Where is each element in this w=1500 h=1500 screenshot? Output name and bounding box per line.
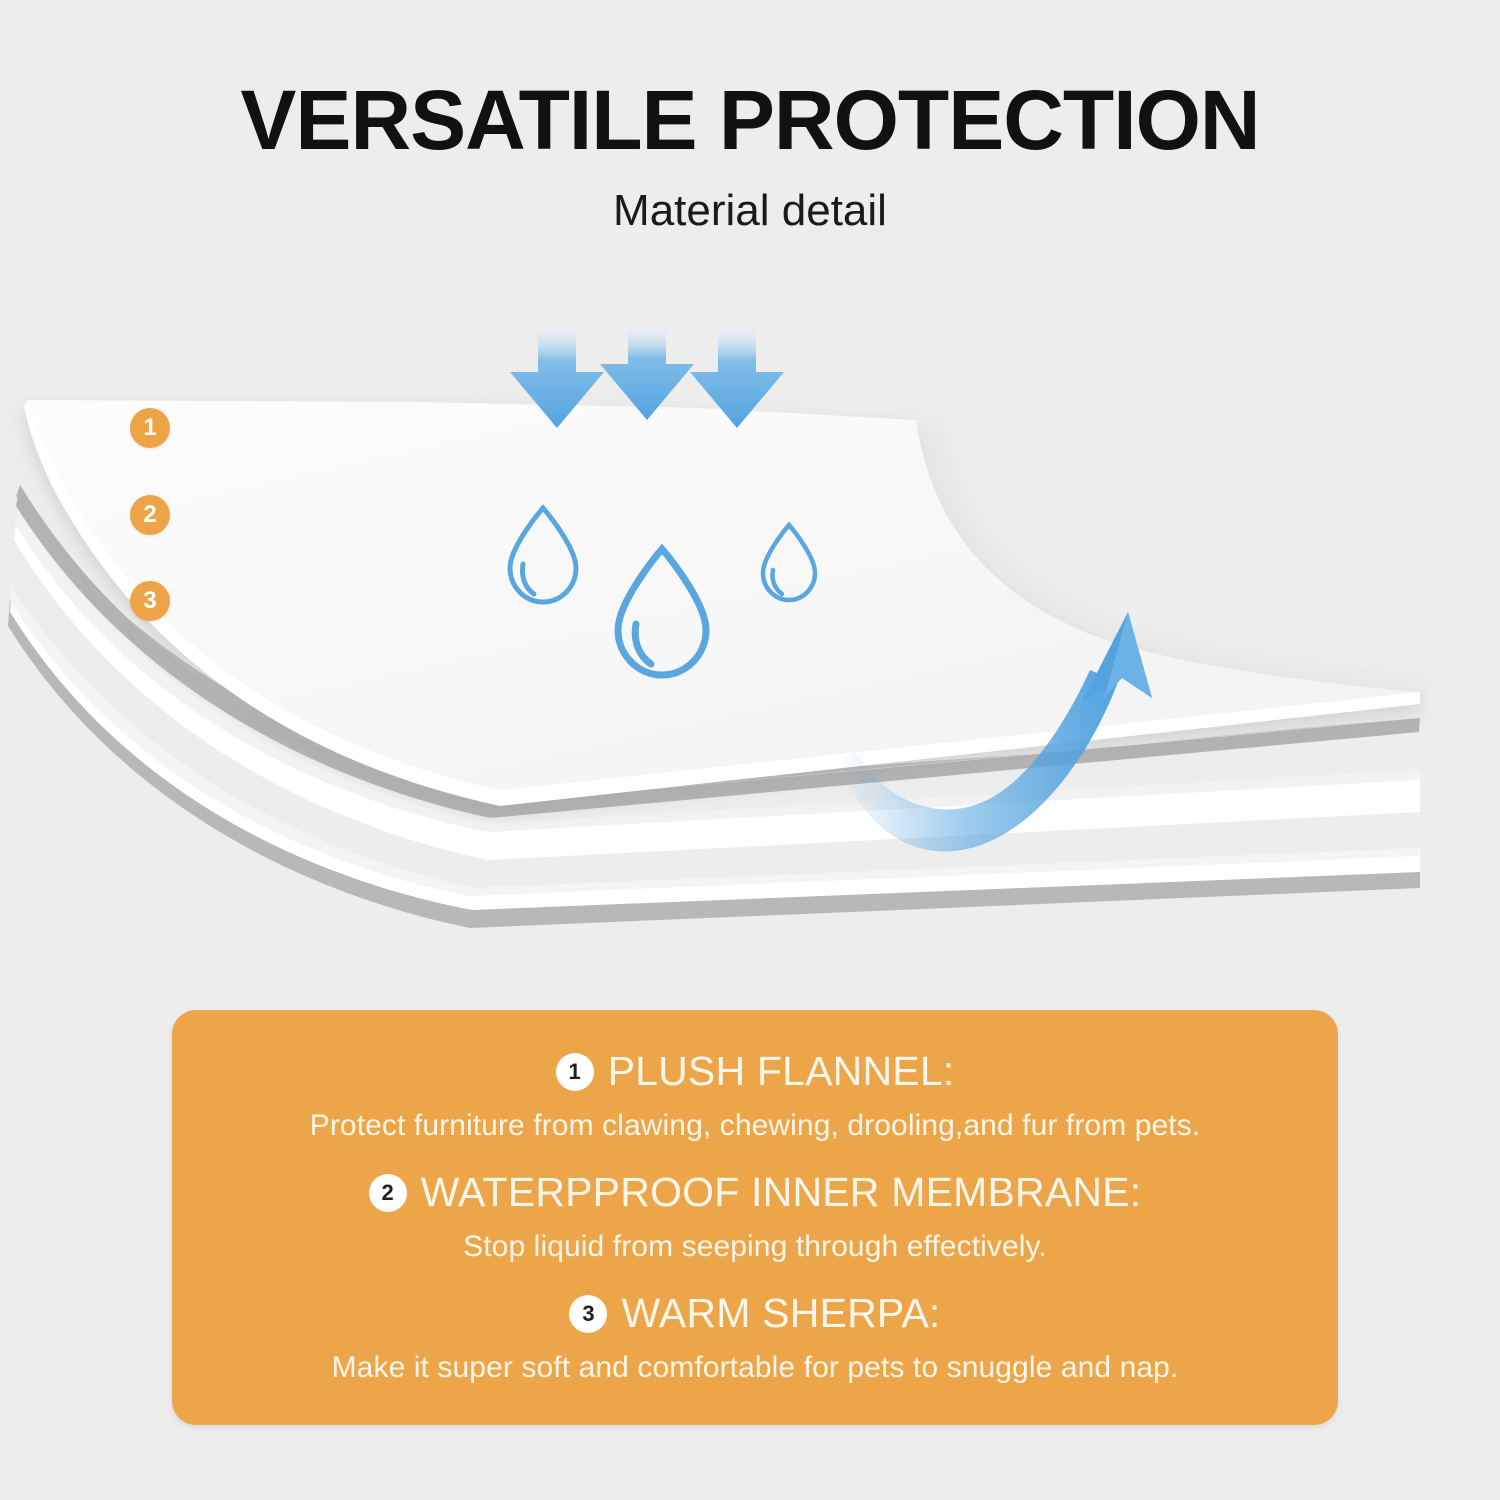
down-arrows-group bbox=[510, 320, 784, 428]
infographic-page: VERSATILE PROTECTION Material detail bbox=[0, 0, 1500, 1500]
header: VERSATILE PROTECTION Material detail bbox=[0, 0, 1500, 236]
feature-heading-3: 3 WARM SHERPA: bbox=[172, 1290, 1338, 1337]
layer-marker-1: 1 bbox=[130, 408, 170, 448]
feature-description-2: Stop liquid from seeping through effecti… bbox=[172, 1230, 1338, 1264]
down-arrow-icon bbox=[600, 320, 694, 420]
feature-description-1: Protect furniture from clawing, chewing,… bbox=[172, 1109, 1338, 1143]
feature-title-1: PLUSH FLANNEL: bbox=[608, 1048, 955, 1095]
material-layers-illustration bbox=[0, 300, 1500, 980]
feature-item-1: 1 PLUSH FLANNEL: Protect furniture from … bbox=[172, 1036, 1338, 1157]
feature-title-3: WARM SHERPA: bbox=[621, 1290, 940, 1337]
layers-svg bbox=[0, 300, 1500, 980]
feature-item-3: 3 WARM SHERPA: Make it super soft and co… bbox=[172, 1278, 1338, 1399]
feature-panel: 1 PLUSH FLANNEL: Protect furniture from … bbox=[172, 1010, 1338, 1425]
feature-heading-2: 2 WATERPPROOF INNER MEMBRANE: bbox=[172, 1169, 1338, 1216]
layer-marker-3: 3 bbox=[130, 581, 170, 621]
page-subtitle: Material detail bbox=[0, 162, 1500, 236]
feature-item-2: 2 WATERPPROOF INNER MEMBRANE: Stop liqui… bbox=[172, 1157, 1338, 1278]
feature-title-2: WATERPPROOF INNER MEMBRANE: bbox=[421, 1169, 1142, 1216]
page-title: VERSATILE PROTECTION bbox=[0, 0, 1500, 162]
feature-heading-1: 1 PLUSH FLANNEL: bbox=[172, 1048, 1338, 1095]
layer-marker-3-label: 3 bbox=[143, 587, 156, 615]
layer-marker-2: 2 bbox=[130, 495, 170, 535]
layer-marker-1-label: 1 bbox=[143, 414, 156, 442]
layer-marker-2-label: 2 bbox=[143, 501, 156, 529]
feature-badge-1: 1 bbox=[556, 1053, 594, 1091]
feature-badge-2: 2 bbox=[369, 1174, 407, 1212]
feature-description-3: Make it super soft and comfortable for p… bbox=[172, 1351, 1338, 1385]
feature-badge-3: 3 bbox=[569, 1295, 607, 1333]
